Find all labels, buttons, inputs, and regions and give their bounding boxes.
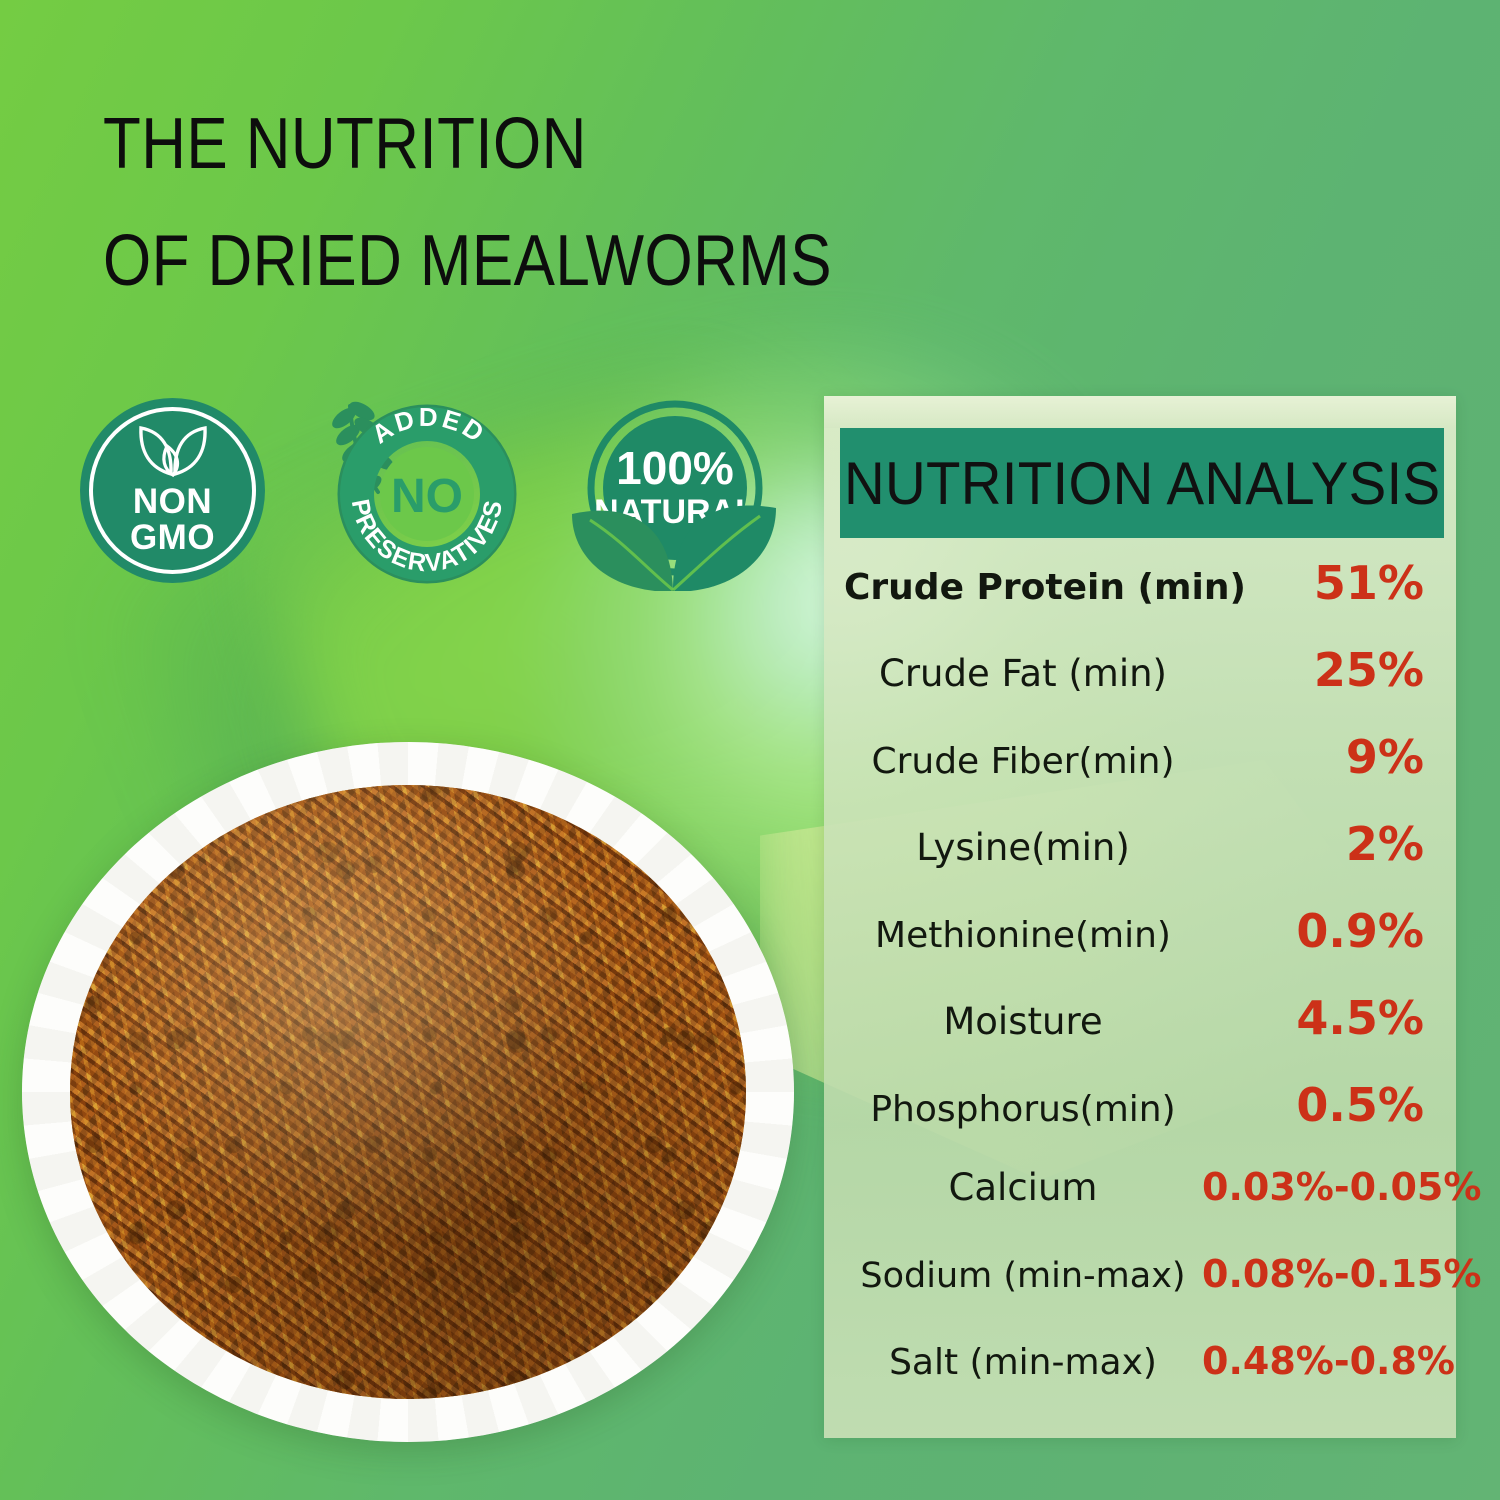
nutrition-analysis-panel: NUTRITION ANALYSIS Crude Protein (min)51… [824,396,1456,1438]
badge-non-gmo-line1: NON [80,484,265,520]
certification-badges: NON GMO [70,388,830,598]
nutrient-value: 51% [1246,556,1440,610]
page-title: THE NUTRITION OF DRIED MEALWORMS [103,86,877,319]
nutrient-value: 2% [1202,817,1440,871]
table-row: Lysine(min)2% [844,817,1440,904]
badge-natural-line1: 100% [616,442,734,494]
nutrient-label: Phosphorus(min) [844,1089,1202,1130]
nutrient-label: Crude Fiber(min) [844,741,1202,782]
nutrient-value: 4.5% [1202,991,1440,1045]
nutrient-label: Sodium (min-max) [844,1256,1202,1296]
badge-non-gmo: NON GMO [80,398,265,583]
table-row: Crude Fiber(min)9% [844,730,1440,817]
nutrition-table: Crude Protein (min)51%Crude Fat (min)25%… [844,556,1440,1426]
table-row: Methionine(min)0.9% [844,904,1440,991]
plate-of-dried-mealworms [22,742,794,1442]
table-row: Crude Fat (min)25% [844,643,1440,730]
nutrient-value: 9% [1202,730,1440,784]
nutrient-value: 25% [1202,643,1440,697]
mealworms-heap [70,785,746,1398]
nutrient-label: Lysine(min) [844,826,1202,869]
badge-nap-arc-top: ADDED [366,402,492,450]
infographic-canvas: THE NUTRITION OF DRIED MEALWORMS NON GMO [0,0,1500,1500]
table-row: Crude Protein (min)51% [844,556,1440,643]
table-row: Calcium0.03%-0.05% [844,1165,1440,1252]
nutrient-label: Methionine(min) [844,915,1202,956]
table-row: Salt (min-max)0.48%-0.8% [844,1339,1440,1426]
nutrition-analysis-title: NUTRITION ANALYSIS [844,449,1440,518]
panel-top-strip [824,396,1456,428]
nutrient-label: Crude Protein (min) [844,567,1246,608]
nutrient-value: 0.08%-0.15% [1202,1252,1497,1296]
nutrient-value: 0.9% [1202,904,1440,958]
badge-no-added-preservatives: NO ADDED PRESERVATIVES [322,390,532,595]
page-title-line1: THE NUTRITION [103,86,877,203]
nutrient-label: Calcium [844,1166,1202,1209]
nutrient-value: 0.5% [1202,1078,1440,1132]
badge-nap-center-text: NO [391,470,463,523]
two-leaves-icon [130,418,216,480]
table-row: Sodium (min-max)0.08%-0.15% [844,1252,1440,1339]
table-row: Moisture4.5% [844,991,1440,1078]
nutrient-label: Salt (min-max) [844,1342,1202,1383]
nutrient-value: 0.48%-0.8% [1202,1339,1471,1383]
badge-non-gmo-text: NON GMO [80,484,265,555]
badge-non-gmo-line2: GMO [80,520,265,556]
table-row: Phosphorus(min)0.5% [844,1078,1440,1165]
page-title-line2: OF DRIED MEALWORMS [103,203,877,320]
nutrient-value: 0.03%-0.05% [1202,1165,1497,1209]
badge-100-natural: 100% NATURAL [568,396,783,591]
nutrition-analysis-header: NUTRITION ANALYSIS [840,428,1444,538]
nutrient-label: Moisture [844,1000,1202,1043]
nutrient-label: Crude Fat (min) [844,652,1202,695]
